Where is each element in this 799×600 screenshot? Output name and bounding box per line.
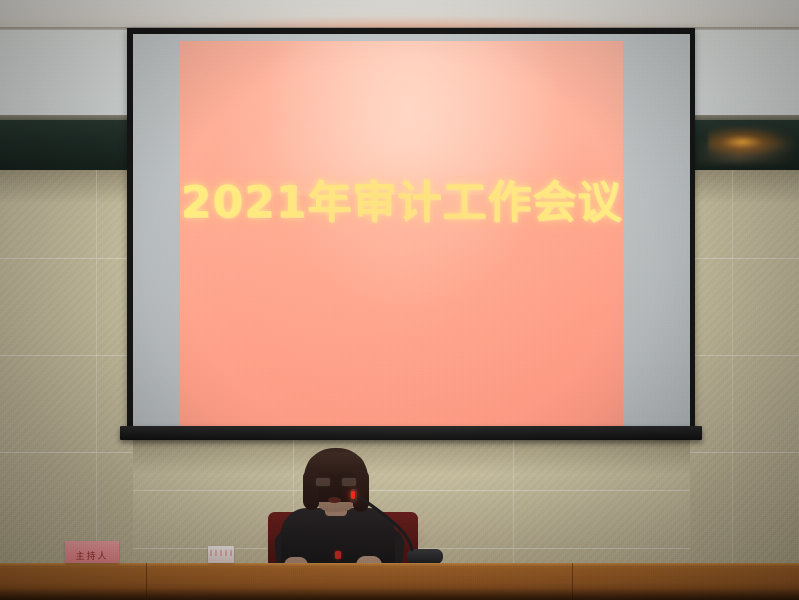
microphone-gooseneck — [360, 496, 416, 552]
stone-seam — [133, 490, 690, 491]
projection-screen-bottom-bar — [120, 426, 702, 440]
stone-seam — [690, 258, 799, 259]
conference-table — [0, 563, 799, 600]
table-top-edge — [0, 563, 799, 566]
wall-top-shadow — [0, 170, 133, 204]
dark-glass-band-left — [0, 115, 128, 170]
glass-band-cap — [694, 115, 799, 120]
lamp-reflection-glow — [708, 125, 794, 159]
wall-top-shadow — [133, 440, 690, 474]
stone-seam — [0, 452, 133, 453]
stone-seam — [0, 355, 133, 356]
glasses-lens-left — [315, 477, 331, 487]
name-placard: 主持人 — [65, 541, 119, 563]
stone-wall-left — [0, 170, 133, 570]
name-placard-text: 主持人 — [65, 549, 119, 562]
lapel-pin — [335, 551, 341, 559]
wall-top-shadow — [690, 170, 799, 204]
glass-band-cap — [0, 115, 128, 120]
dark-glass-band-right — [694, 115, 799, 170]
conference-room-scene: 2021年审计工作会议 — [0, 0, 799, 600]
projector-hotspot — [215, 41, 587, 195]
tissue-box — [208, 546, 234, 563]
projected-slide: 2021年审计工作会议 — [180, 41, 623, 426]
stone-seam — [0, 258, 133, 259]
glasses-bridge — [331, 481, 341, 482]
glass-panel — [0, 115, 128, 170]
microphone-led-indicator — [351, 491, 355, 499]
mouth — [328, 497, 341, 503]
stone-wall-right — [690, 170, 799, 570]
stone-vertical-seam — [513, 440, 514, 570]
slide-title: 2021年审计工作会议 — [180, 181, 623, 225]
glasses — [315, 477, 357, 487]
stone-vertical-seam — [96, 170, 97, 570]
glasses-lens-right — [341, 477, 357, 487]
table-lower-shadow — [0, 588, 799, 600]
stone-seam — [690, 452, 799, 453]
stone-vertical-seam — [732, 170, 733, 570]
tissue-box-pattern — [210, 550, 232, 556]
hair-side-left — [303, 470, 319, 510]
stone-seam — [690, 355, 799, 356]
